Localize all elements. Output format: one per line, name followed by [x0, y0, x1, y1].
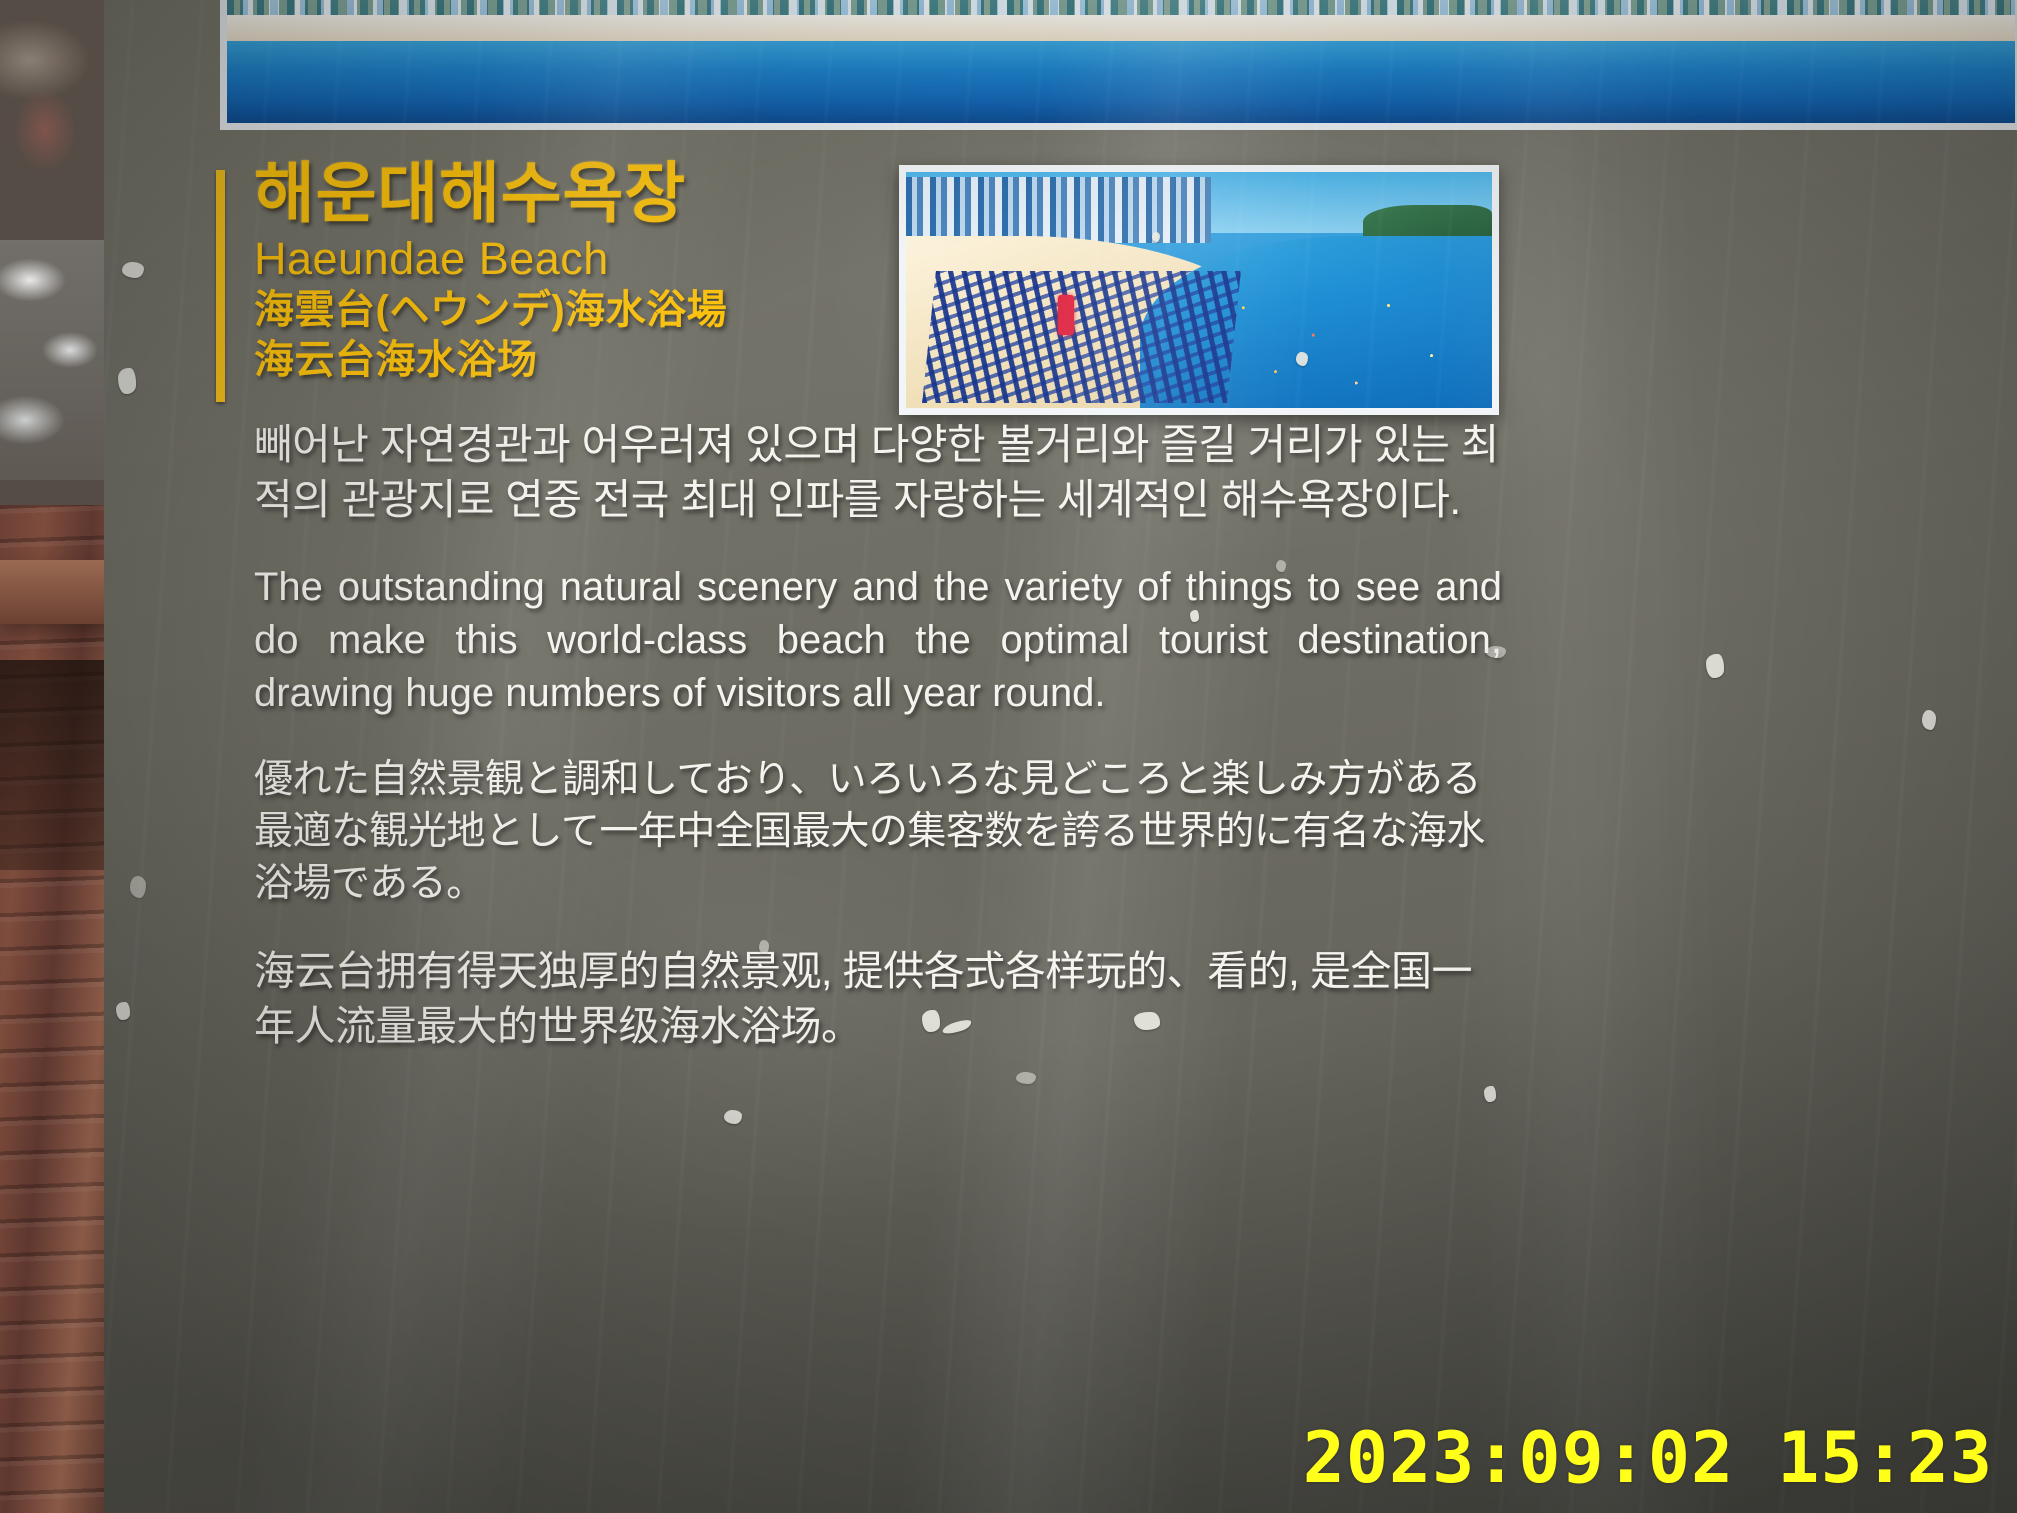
paint-chip: [1296, 352, 1308, 366]
camera-timestamp: 2023:09:02 15:23: [1303, 1417, 1993, 1499]
paint-chip: [724, 1110, 742, 1124]
thumb-parasols: [922, 271, 1241, 403]
title-chinese: 海云台海水浴场: [254, 339, 776, 381]
paragraph-chinese-text: 海云台拥有得天独厚的自然景观, 提供各式各样玩的、看的, 是全国一年人流量最大的…: [254, 944, 1502, 1054]
paint-chip: [116, 1002, 130, 1020]
title-block: 해운대해수욕장 Haeundae Beach 海雲台(ヘウンデ)海水浴場 海云台…: [216, 160, 776, 381]
title-korean: 해운대해수욕장: [254, 160, 776, 226]
paint-chip: [1922, 710, 1936, 730]
paint-chip: [1486, 646, 1506, 658]
map-photo: 海云台海水浴场 迎月路: [220, 0, 2017, 130]
title-english: Haeundae Beach: [254, 236, 776, 281]
map-sea: [227, 41, 2015, 123]
paint-chip: [1276, 560, 1286, 572]
information-sign-panel: 海云台海水浴场 迎月路 해운대해수욕장 Haeundae Beach 海雲台(ヘ…: [104, 0, 2017, 1513]
paragraph-chinese: 海云台拥有得天独厚的自然景观, 提供各式各样玩的、看的, 是全国一年人流量最大的…: [254, 944, 1502, 1054]
paragraph-korean: 빼어난 자연경관과 어우러져 있으며 다양한 볼거리와 즐길 거리가 있는 최적…: [254, 418, 1502, 527]
thumb-red-structure: [1058, 295, 1074, 335]
photo-scene: 海云台海水浴场 迎月路 해운대해수욕장 Haeundae Beach 海雲台(ヘ…: [0, 0, 2017, 1513]
sign-body-text: 빼어난 자연경관과 어우러져 있으며 다양한 볼거리와 즐길 거리가 있는 최적…: [254, 418, 1502, 1088]
paint-chip: [122, 262, 144, 278]
beach-thumbnail-photo: [899, 165, 1499, 415]
paragraph-japanese-text: 優れた自然景観と調和しており、いろいろな見どころと楽しみ方がある最適な観光地とし…: [254, 754, 1502, 911]
paint-chip: [1016, 1072, 1036, 1084]
paragraph-japanese: 優れた自然景観と調和しており、いろいろな見どころと楽しみ方がある最適な観光地とし…: [254, 754, 1502, 911]
wooden-deck: [0, 505, 120, 1513]
paragraph-english-text: The outstanding natural scenery and the …: [254, 561, 1502, 719]
yellow-accent-bar: [216, 170, 225, 402]
deck-shadow: [0, 660, 120, 870]
thumb-skyline: [906, 177, 1211, 243]
map-beach-sand: [227, 15, 2015, 43]
title-japanese: 海雲台(ヘウンデ)海水浴場: [254, 289, 776, 331]
paint-chip: [1190, 610, 1199, 622]
paint-chip: [1706, 654, 1724, 678]
paint-chip: [922, 1010, 940, 1032]
paint-chip: [1152, 232, 1160, 242]
paint-chip: [1134, 1012, 1160, 1030]
paint-chip: [130, 876, 146, 898]
paragraph-english: The outstanding natural scenery and the …: [254, 561, 1502, 719]
deck-railing: [0, 560, 120, 624]
paint-chip: [759, 940, 769, 954]
paint-chip: [118, 368, 136, 394]
thumb-swimmers: [1211, 285, 1481, 398]
sea-foam: [0, 240, 105, 480]
paragraph-korean-text: 빼어난 자연경관과 어우러져 있으며 다양한 볼거리와 즐길 거리가 있는 최적…: [254, 418, 1502, 527]
paint-chip: [1484, 1086, 1496, 1102]
